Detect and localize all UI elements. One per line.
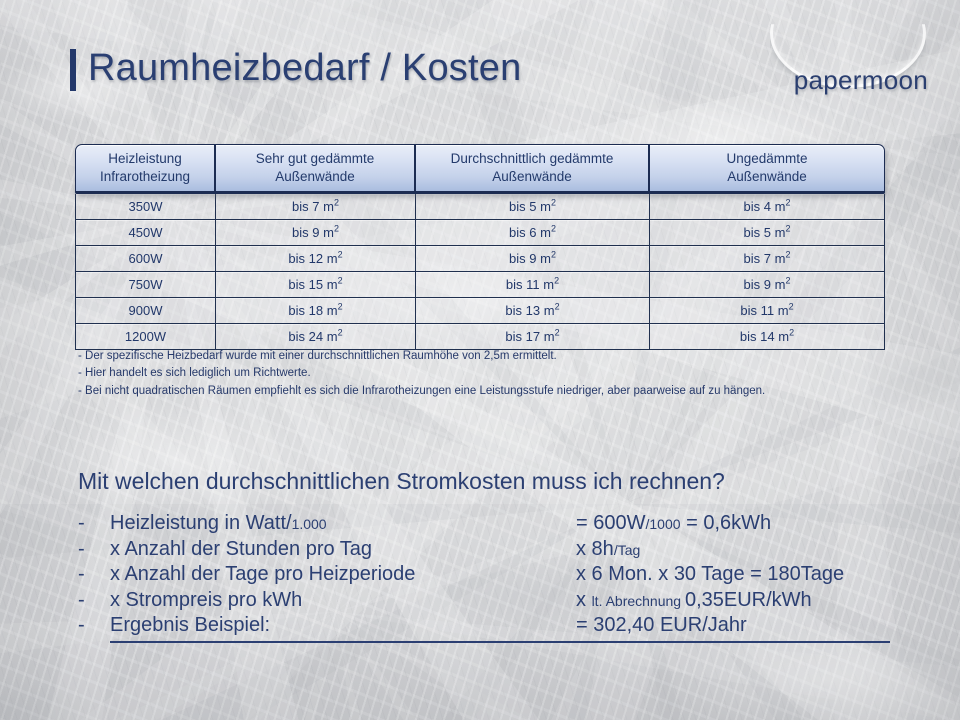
table-cell-area: bis 14 m2 [650, 324, 885, 350]
calculation-row: -x Strompreis pro kWhx lt. Abrechnung 0,… [78, 589, 890, 615]
table-cell-superscript: 2 [338, 328, 343, 338]
calculation-bullet: - [78, 589, 110, 612]
table-cell-text: bis 4 m [744, 199, 786, 214]
calculation-value-main: x 8h [576, 538, 614, 560]
brand-logo: papermoon [762, 22, 934, 108]
table-column-header-line: Ungedämmte [651, 150, 883, 168]
table-cell-superscript: 2 [554, 276, 559, 286]
table-cell-text: bis 5 m [509, 199, 551, 214]
table-cell-superscript: 2 [338, 302, 343, 312]
table-cell-text: bis 11 m [506, 277, 554, 292]
table-column-header-line: Infrarotheizung [77, 168, 213, 186]
table-cell-superscript: 2 [555, 302, 560, 312]
calculation-term-main: Heizleistung in Watt/ [110, 512, 292, 534]
table-cell-text: bis 11 m [740, 303, 788, 318]
table-cell-area: bis 18 m2 [216, 298, 416, 324]
calculation-bullet: - [78, 563, 110, 586]
calculation-value-main: x 6 Mon. x 30 Tage = 180Tage [576, 563, 844, 585]
table-cell-superscript: 2 [785, 224, 790, 234]
table-cell-area: bis 5 m2 [650, 220, 885, 246]
calculation-term: x Anzahl der Stunden pro Tag [110, 538, 576, 561]
section-question: Mit welchen durchschnittlichen Stromkost… [78, 468, 725, 495]
table-cell-area: bis 24 m2 [216, 324, 416, 350]
footnote-item: - Bei nicht quadratischen Räumen empfieh… [78, 383, 908, 400]
table-header-row: HeizleistungInfrarotheizungSehr gut gedä… [75, 144, 885, 194]
table-cell-area: bis 9 m2 [650, 272, 885, 298]
table-column-header: Sehr gut gedämmteAußenwände [216, 144, 416, 194]
calculation-bullet: - [78, 614, 110, 637]
table-cell-text: bis 15 m [288, 277, 337, 292]
table-cell-area: bis 17 m2 [416, 324, 650, 350]
table-header: HeizleistungInfrarotheizungSehr gut gedä… [75, 144, 885, 194]
table-cell-text: bis 12 m [288, 251, 337, 266]
table-cell-superscript: 2 [551, 250, 556, 260]
table-cell-text: 750W [129, 277, 163, 292]
calculation-value: x lt. Abrechnung 0,35EUR/kWh [576, 589, 890, 612]
calculation-value-small: /Tag [614, 542, 640, 558]
table-body: 350Wbis 7 m2bis 5 m2bis 4 m2450Wbis 9 m2… [75, 194, 885, 350]
calculation-term-main: Ergebnis Beispiel: [110, 614, 270, 636]
calculation-value: = 600W/1000 = 0,6kWh [576, 512, 890, 535]
calculation-value-main: = 302,40 EUR/Jahr [576, 614, 747, 636]
table-column-header-line: Heizleistung [77, 150, 213, 168]
calculation-value-small: /1000 [645, 516, 680, 532]
logo-wordmark: papermoon [794, 65, 928, 96]
table-cell-area: bis 6 m2 [416, 220, 650, 246]
table-cell-text: 1200W [125, 329, 166, 344]
table-row: 750Wbis 15 m2bis 11 m2bis 9 m2 [75, 272, 885, 298]
table-cell-power: 750W [75, 272, 216, 298]
table-cell-text: 600W [129, 251, 163, 266]
calculation-value-main2: = 0,6kWh [681, 512, 772, 534]
table-cell-area: bis 5 m2 [416, 194, 650, 220]
result-underline [110, 641, 890, 643]
table-cell-superscript: 2 [785, 276, 790, 286]
slide-canvas: Raumheizbedarf / Kosten papermoon Heizle… [0, 0, 960, 720]
table-cell-area: bis 15 m2 [216, 272, 416, 298]
table-cell-area: bis 7 m2 [216, 194, 416, 220]
table-cell-text: bis 13 m [505, 303, 554, 318]
table-column-header-line: Außenwände [217, 168, 413, 186]
table-cell-superscript: 2 [551, 224, 556, 234]
table-cell-text: bis 6 m [509, 225, 551, 240]
table-row: 900Wbis 18 m2bis 13 m2bis 11 m2 [75, 298, 885, 324]
table-cell-superscript: 2 [338, 250, 343, 260]
table-cell-text: bis 7 m [292, 199, 334, 214]
table-cell-text: bis 18 m [288, 303, 337, 318]
calculation-term: Heizleistung in Watt/1.000 [110, 512, 576, 535]
table-cell-power: 600W [75, 246, 216, 272]
table-cell-power: 350W [75, 194, 216, 220]
title-text: Raumheizbedarf / Kosten [88, 47, 521, 90]
table-cell-text: bis 17 m [505, 329, 554, 344]
table-cell-text: bis 5 m [744, 225, 786, 240]
table-cell-superscript: 2 [785, 250, 790, 260]
table-cell-text: 900W [129, 303, 163, 318]
table-cell-text: bis 7 m [744, 251, 786, 266]
table-cell-superscript: 2 [338, 276, 343, 286]
table-cell-power: 450W [75, 220, 216, 246]
calculation-value-main: x [576, 589, 592, 611]
table-cell-text: bis 9 m [509, 251, 551, 266]
table-cell-area: bis 12 m2 [216, 246, 416, 272]
table-cell-area: bis 11 m2 [650, 298, 885, 324]
calculation-term-main: x Anzahl der Tage pro Heizperiode [110, 563, 415, 585]
calculation-value-main: = 600W [576, 512, 645, 534]
table-cell-area: bis 7 m2 [650, 246, 885, 272]
table-row: 450Wbis 9 m2bis 6 m2bis 5 m2 [75, 220, 885, 246]
table-cell-superscript: 2 [789, 302, 794, 312]
calculation-row: -x Anzahl der Tage pro Heizperiodex 6 Mo… [78, 563, 890, 589]
table-cell-area: bis 9 m2 [416, 246, 650, 272]
table-cell-superscript: 2 [785, 198, 790, 208]
table-cell-text: 350W [129, 199, 163, 214]
calculation-term: x Anzahl der Tage pro Heizperiode [110, 563, 576, 586]
calculation-value-main2: 0,35EUR/kWh [685, 589, 812, 611]
table-cell-area: bis 11 m2 [416, 272, 650, 298]
table-row: 600Wbis 12 m2bis 9 m2bis 7 m2 [75, 246, 885, 272]
table-column-header-line: Durchschnittlich gedämmte [417, 150, 647, 168]
heating-capacity-table: HeizleistungInfrarotheizungSehr gut gedä… [75, 144, 885, 350]
calculation-row: -x Anzahl der Stunden pro Tagx 8h/Tag [78, 538, 890, 564]
calculation-term: x Strompreis pro kWh [110, 589, 576, 612]
page-title: Raumheizbedarf / Kosten [70, 46, 521, 91]
table-cell-area: bis 13 m2 [416, 298, 650, 324]
table-column-header-line: Außenwände [651, 168, 883, 186]
calculation-value: x 6 Mon. x 30 Tage = 180Tage [576, 563, 890, 586]
table-cell-text: bis 9 m [292, 225, 334, 240]
footnote-item: - Hier handelt es sich lediglich um Rich… [78, 365, 908, 382]
table-cell-superscript: 2 [789, 328, 794, 338]
calculation-value: x 8h/Tag [576, 538, 890, 561]
table-cell-superscript: 2 [334, 198, 339, 208]
table-row: 1200Wbis 24 m2bis 17 m2bis 14 m2 [75, 324, 885, 350]
calculation-bullet: - [78, 538, 110, 561]
table-cell-text: bis 14 m [740, 329, 789, 344]
cost-calculation-list: -Heizleistung in Watt/1.000= 600W/1000 =… [78, 512, 890, 640]
title-accent-bar [70, 49, 76, 91]
table-cell-power: 900W [75, 298, 216, 324]
table-cell-power: 1200W [75, 324, 216, 350]
footnote-item: - Der spezifische Heizbedarf wurde mit e… [78, 348, 908, 365]
calculation-value: = 302,40 EUR/Jahr [576, 614, 890, 637]
table-cell-superscript: 2 [555, 328, 560, 338]
calculation-term: Ergebnis Beispiel: [110, 614, 576, 637]
calculation-bullet: - [78, 512, 110, 535]
calculation-row: -Heizleistung in Watt/1.000= 600W/1000 =… [78, 512, 890, 538]
calculation-row: -Ergebnis Beispiel:= 302,40 EUR/Jahr [78, 614, 890, 640]
table-column-header-line: Außenwände [417, 168, 647, 186]
calculation-term-main: x Anzahl der Stunden pro Tag [110, 538, 372, 560]
table-column-header: UngedämmteAußenwände [650, 144, 885, 194]
table-cell-superscript: 2 [551, 198, 556, 208]
calculation-term-small: 1.000 [292, 516, 327, 532]
table-cell-superscript: 2 [334, 224, 339, 234]
table-column-header: Durchschnittlich gedämmteAußenwände [416, 144, 650, 194]
table-column-header: HeizleistungInfrarotheizung [75, 144, 216, 194]
table-column-header-line: Sehr gut gedämmte [217, 150, 413, 168]
table-cell-area: bis 9 m2 [216, 220, 416, 246]
table-footnotes: - Der spezifische Heizbedarf wurde mit e… [78, 348, 908, 400]
calculation-value-small: lt. Abrechnung [592, 593, 685, 609]
table-cell-area: bis 4 m2 [650, 194, 885, 220]
calculation-term-main: x Strompreis pro kWh [110, 589, 302, 611]
table-row: 350Wbis 7 m2bis 5 m2bis 4 m2 [75, 194, 885, 220]
table-cell-text: bis 24 m [288, 329, 337, 344]
table-cell-text: bis 9 m [744, 277, 786, 292]
table-cell-text: 450W [129, 225, 163, 240]
